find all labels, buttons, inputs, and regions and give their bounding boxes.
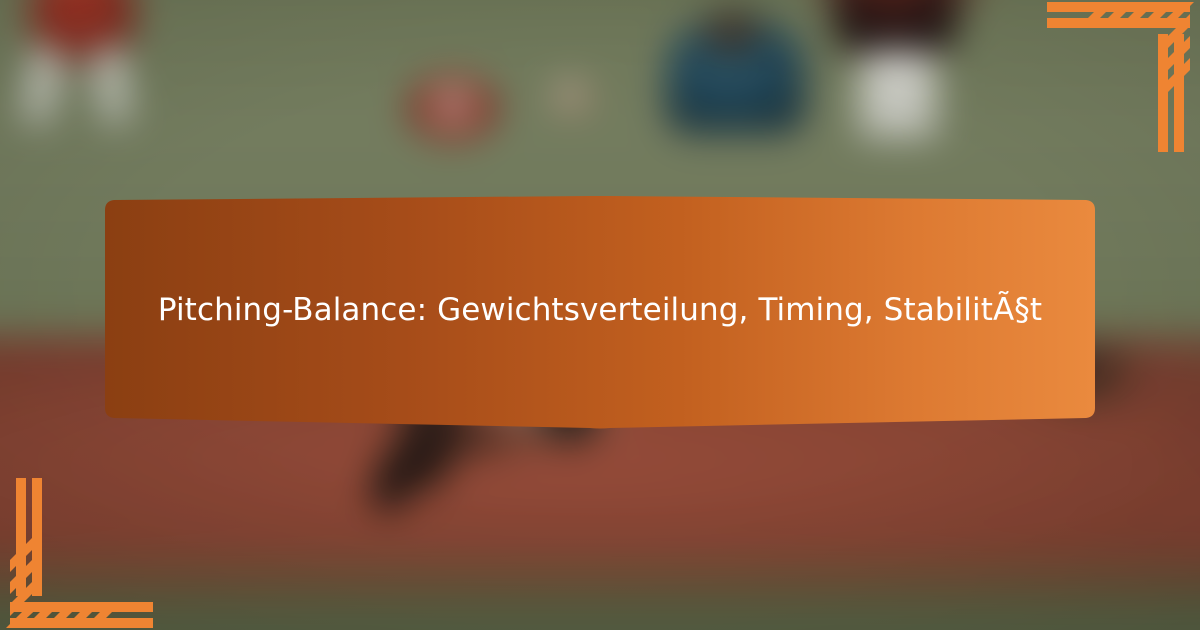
figure-spectator-blue-head xyxy=(703,9,760,56)
figure-player-dark-torso xyxy=(833,0,958,57)
share-card: Pitching-Balance: Gewichtsverteilung, Ti… xyxy=(0,0,1200,630)
title-banner: Pitching-Balance: Gewichtsverteilung, Ti… xyxy=(96,196,1104,432)
figure-blur-center-small xyxy=(551,79,591,115)
figure-blur-center xyxy=(407,77,498,141)
figure-player-dark-pants xyxy=(860,51,936,138)
corner-ornament-top-right xyxy=(1040,0,1200,160)
title-banner-text-area: Pitching-Balance: Gewichtsverteilung, Ti… xyxy=(96,196,1104,424)
page-title: Pitching-Balance: Gewichtsverteilung, Ti… xyxy=(158,285,1042,335)
foreground-grass-layer xyxy=(0,543,1200,607)
corner-ornament-tr-graphic xyxy=(1040,0,1200,160)
corner-ornament-bottom-left xyxy=(0,470,160,630)
corner-ornament-bl-graphic xyxy=(0,470,160,630)
